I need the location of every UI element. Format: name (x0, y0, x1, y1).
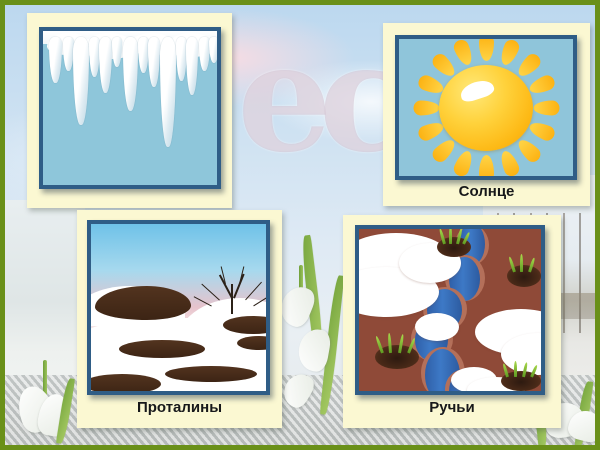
thawed-patches-caption: Проталины (77, 399, 282, 416)
sun-ray (451, 148, 475, 178)
grass-patch (501, 371, 541, 391)
sun-ray (497, 37, 521, 67)
sun-scene (399, 39, 573, 176)
bare-tree (201, 262, 265, 314)
sun-highlight (458, 77, 496, 104)
snow-patch (415, 313, 459, 341)
sun-ray (527, 119, 557, 143)
slide-canvas: ес (0, 0, 600, 450)
streams-scene (359, 229, 541, 391)
sun-ray (479, 35, 494, 61)
sun-card[interactable]: Солнце (383, 23, 590, 206)
sun-picture (395, 35, 577, 180)
icicles-scene (43, 31, 217, 185)
sun-ray (527, 73, 557, 97)
sun-ray (514, 135, 543, 164)
sun-ray (514, 51, 543, 80)
snowdrop-flower-left (13, 360, 83, 445)
icicles-picture (39, 27, 221, 189)
soil-patch (119, 340, 205, 358)
grass-patch (375, 345, 419, 369)
grass-patch (437, 237, 471, 257)
thawed-patches-picture (87, 220, 270, 395)
streams-picture (355, 225, 545, 395)
grass-patch (507, 265, 541, 287)
sun-ray (497, 148, 521, 178)
sun-caption: Солнце (383, 183, 590, 200)
sun-ray (479, 155, 494, 181)
sun-disc (439, 65, 533, 151)
soil-patch (91, 374, 161, 391)
streams-card[interactable]: Ручьи (343, 215, 561, 428)
background-watermark-text: ес (237, 23, 387, 208)
streams-caption: Ручьи (343, 399, 561, 416)
icicles-card[interactable] (27, 13, 232, 208)
sun-ray (533, 100, 559, 115)
soil-patch (95, 286, 191, 320)
sun-ray (451, 37, 475, 67)
sun-ray (413, 100, 439, 115)
thawed-patches-card[interactable]: Проталины (77, 210, 282, 428)
thawed-patches-scene (91, 224, 266, 391)
soil-patch (165, 366, 257, 382)
